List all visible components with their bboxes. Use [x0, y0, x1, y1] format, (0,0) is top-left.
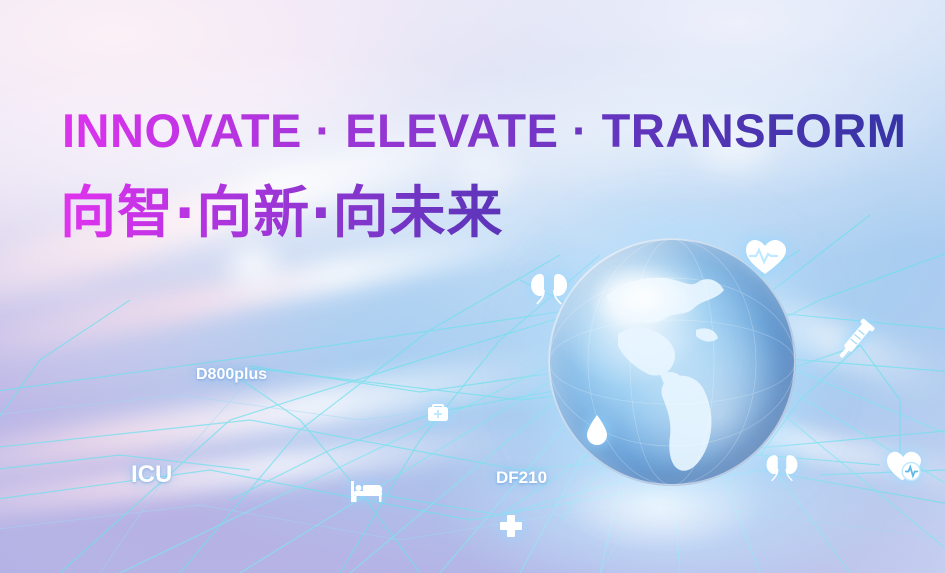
water-drop-icon — [585, 414, 609, 446]
hospital-bed-icon — [350, 478, 384, 504]
heart-monitor-icon — [885, 450, 923, 484]
heart-pulse-icon — [744, 238, 786, 276]
kidneys-icon — [526, 268, 572, 310]
page-subtitle: 向智·向新·向未来 — [60, 168, 504, 249]
product-label-icu: ICU — [131, 461, 172, 489]
kidneys-icon-2 — [760, 450, 804, 486]
product-label-d800plus: D800plus — [196, 366, 267, 384]
product-label-df210: DF210 — [496, 468, 547, 488]
medical-bag-icon — [426, 400, 450, 424]
hero-banner: INNOVATE · ELEVATE · TRANSFORM 向智·向新·向未来… — [0, 0, 945, 573]
medical-cross-icon — [499, 513, 523, 537]
page-title: INNOVATE · ELEVATE · TRANSFORM — [62, 103, 906, 158]
